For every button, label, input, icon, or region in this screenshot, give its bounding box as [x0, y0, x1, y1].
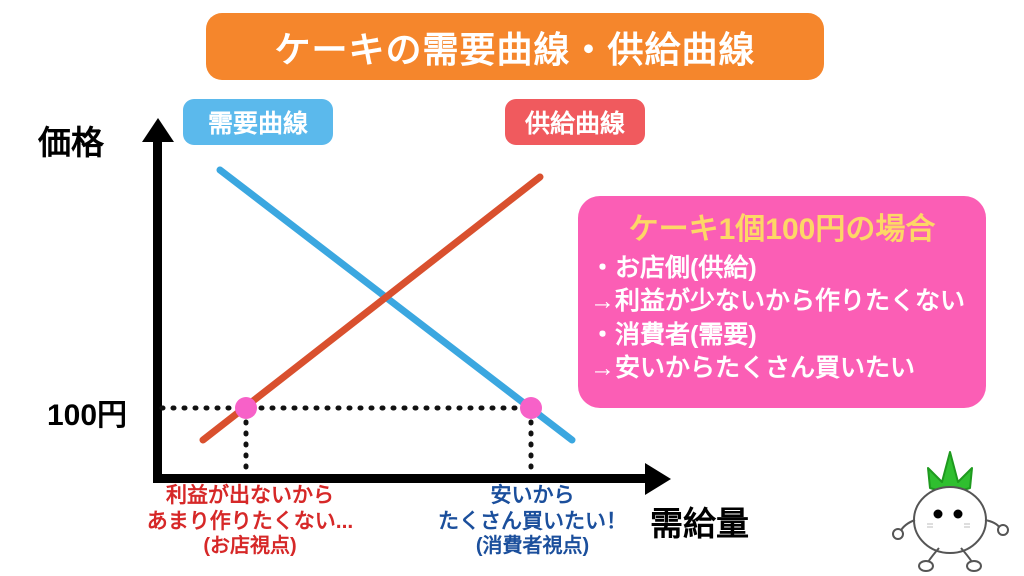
- mascot-right-eye-icon: [954, 510, 963, 519]
- mascot-body: [914, 487, 986, 553]
- mascot-left-eye-icon: [934, 510, 943, 519]
- x-axis-arrow-icon: [645, 463, 671, 495]
- info-box-line-2: →利益が少ないから作りたくない: [588, 285, 976, 318]
- y-axis-arrow-icon: [142, 118, 174, 142]
- mascot-left-foot: [919, 561, 933, 571]
- price-tick-label: 100円: [47, 390, 127, 434]
- info-box-line-1: ・お店側(供給): [588, 252, 976, 285]
- mascot-right-foot: [967, 561, 981, 571]
- marker-supply-at-100: [235, 397, 257, 419]
- y-axis-line: [153, 133, 162, 483]
- annotation-store-line-1: 利益が出ないから: [125, 483, 375, 509]
- info-box-heading: ケーキ1個100円の場合: [588, 204, 976, 248]
- legend-badge-demand: 需要曲線: [183, 99, 333, 145]
- legend-badge-supply-label: 供給曲線: [525, 104, 625, 140]
- annotation-store-line-3: (お店視点): [125, 534, 375, 558]
- marker-demand-at-100: [520, 397, 542, 419]
- mascot-left-hand: [893, 529, 903, 539]
- mascot-right-arm: [985, 520, 1000, 528]
- demand-curve-line: [220, 170, 572, 440]
- x-axis-line: [153, 474, 649, 483]
- page-title: ケーキの需要曲線・供給曲線: [274, 21, 755, 73]
- info-box: ケーキ1個100円の場合 ・お店側(供給) →利益が少ないから作りたくない ・消…: [578, 196, 986, 408]
- mascot-right-hand: [998, 525, 1008, 535]
- supply-curve-line: [203, 177, 540, 440]
- annotation-consumer-line-2: たくさん買いたい！: [420, 509, 645, 535]
- legend-badge-supply: 供給曲線: [505, 99, 645, 145]
- turnip-mascot: [884, 442, 1016, 572]
- annotation-consumer-view: 安いから たくさん買いたい！ (消費者視点): [420, 483, 645, 559]
- annotation-store-line-2: あまり作りたくない...: [125, 509, 375, 535]
- annotation-store-view: 利益が出ないから あまり作りたくない... (お店視点): [125, 483, 375, 559]
- x-axis-label: 需給量: [650, 497, 749, 545]
- legend-badge-demand-label: 需要曲線: [208, 104, 308, 140]
- info-box-line-4: →安いからたくさん買いたい: [588, 352, 976, 385]
- title-banner: ケーキの需要曲線・供給曲線: [206, 13, 824, 80]
- info-box-line-3: ・消費者(需要): [588, 319, 976, 352]
- diagram-canvas: ケーキの需要曲線・供給曲線 需要曲線 供給曲線 価格 需給量 100円 ケーキ1…: [0, 0, 1024, 576]
- y-axis-label: 価格: [38, 116, 104, 164]
- annotation-consumer-line-1: 安いから: [420, 483, 645, 509]
- annotation-consumer-line-3: (消費者視点): [420, 534, 645, 558]
